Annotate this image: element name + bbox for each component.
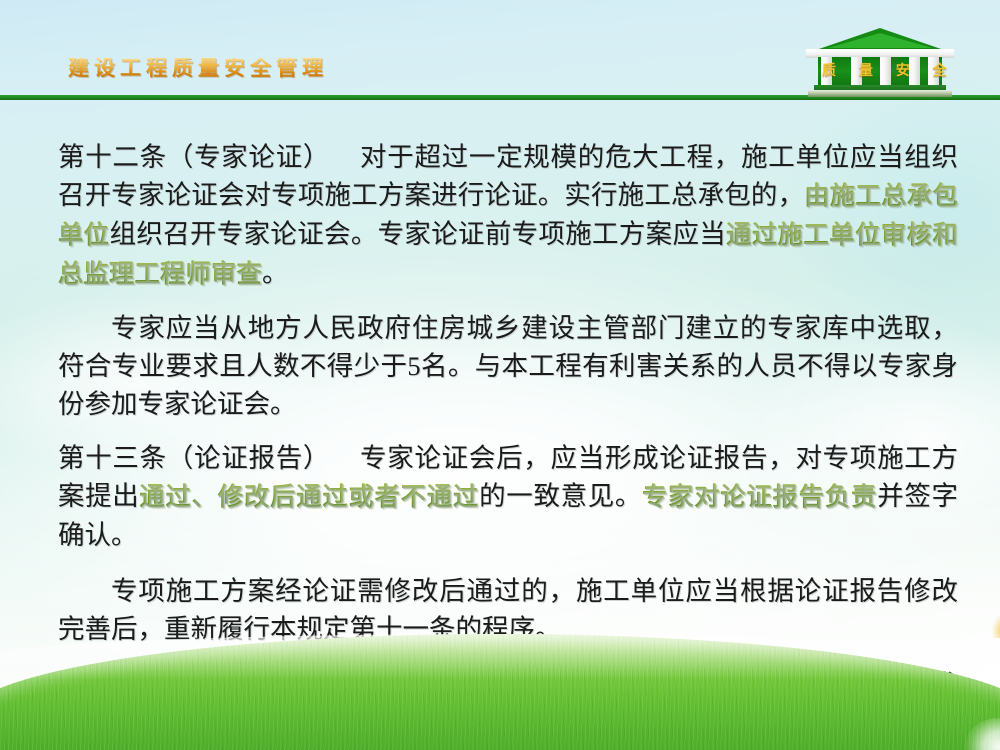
highlighted-text: 通过、修改后通过或者不通过 <box>139 482 479 511</box>
paragraph-article-13: 第十三条（论证报告）专家论证会后，应当形成论证报告，对专项施工方案提出通过、修改… <box>58 439 958 554</box>
sprout-icon <box>992 614 1000 638</box>
highlighted-text: 专家对论证报告负责 <box>642 482 877 511</box>
body-text: 的一致意见。 <box>479 481 642 511</box>
logo-stylobate-icon <box>808 90 952 97</box>
slide-canvas: 建设工程质量安全管理 质 量 安 全 第十二条（专家论证）对于超过一定规模的危大… <box>0 0 1000 750</box>
grass-haze <box>0 634 1000 680</box>
slide-header: 建设工程质量安全管理 质 量 安 全 <box>0 0 1000 104</box>
body-text: 组织召开专家论证会。专家论证前专项施工方案应当 <box>110 219 726 249</box>
body-text: 第十二条（专家论证） <box>58 142 330 172</box>
body-text: 专家应当从地方人民政府住房城乡建设主管部门建立的专家库中选取，符合专业要求且人数… <box>58 313 958 419</box>
logo-pediment-highlight-icon <box>828 33 932 48</box>
grass-field-decoration <box>0 634 1000 750</box>
body-text: 第十三条（论证报告） <box>58 443 330 473</box>
paragraph-article-12: 第十二条（专家论证）对于超过一定规模的危大工程，施工单位应当组织召开专家论证会对… <box>58 138 958 293</box>
quality-safety-logo: 质 量 安 全 <box>806 28 954 102</box>
body-text: 。 <box>262 258 289 288</box>
paragraph-experts-selection: 专家应当从地方人民政府住房城乡建设主管部门建立的专家库中选取，符合专业要求且人数… <box>58 309 958 423</box>
logo-label: 质 量 安 全 <box>822 64 938 78</box>
page-title: 建设工程质量安全管理 <box>68 58 328 79</box>
